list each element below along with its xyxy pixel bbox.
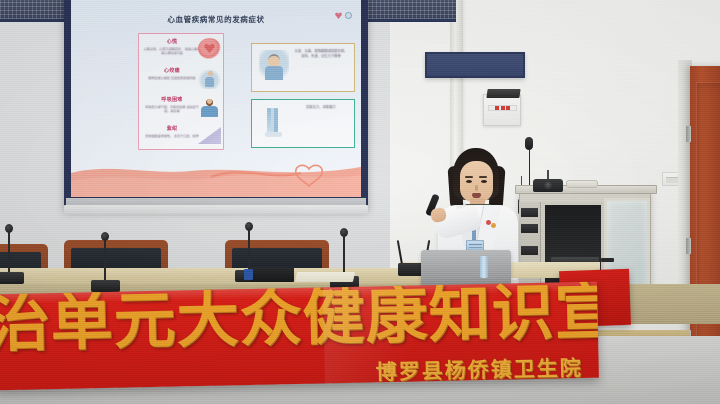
desk-equipment-box (250, 267, 294, 282)
symptom-heading: 心慌 (143, 38, 201, 45)
heart-icon (335, 12, 342, 19)
screen-lower-rail (64, 205, 368, 214)
symptom-box-neuro: 头晕、头痛、视物模糊或短暂失明、耳鸣、失语、记忆力下降等 (251, 43, 355, 92)
microphone-neck (104, 240, 106, 282)
symptom-box-text: 四肢无力、间歇跛行 (293, 105, 349, 110)
symptom-heading: 呼吸困难 (143, 96, 201, 103)
dizzy-head-icon (259, 50, 289, 86)
microphone-neck (8, 232, 10, 274)
cyanosis-icon (198, 127, 221, 144)
symptom-heading: 紫绀 (143, 125, 201, 132)
laptop-lid (421, 250, 511, 286)
panel-digit (501, 106, 505, 110)
face (460, 161, 493, 202)
projection-screen: 心血管疾病常见的发病症状 心慌 心跳过快、心慌不适等症状， 常由心脏病或心律失常… (64, 0, 368, 210)
desk-microphone[interactable] (2, 224, 16, 290)
desk-microphone[interactable] (98, 232, 112, 298)
presentation-slide: 心血管疾病常见的发病症状 心慌 心跳过快、心慌不适等症状， 常由心脏病或心律失常… (71, 0, 361, 197)
heart-blob-icon (198, 38, 221, 59)
microphone-neck (248, 230, 250, 272)
camera-lens (543, 181, 553, 189)
chest-pain-icon (198, 68, 221, 89)
weak-legs-icon (259, 106, 289, 142)
wall-sign-blue (425, 52, 525, 78)
microphone-base (0, 272, 24, 284)
symptom-body: 呼吸费力或气短，平卧时加重 活动后气促、喘息等 (143, 105, 201, 114)
symptom-box-limbs: 四肢无力、间歇跛行 (251, 99, 355, 148)
symptom-box-text: 头晕、头痛、视物模糊或短暂失明、耳鸣、失语、记忆力下降等 (293, 49, 349, 59)
slide-title: 心血管疾病常见的发病症状 (71, 14, 361, 25)
eyebrow (479, 176, 487, 178)
nose (475, 185, 478, 191)
coral-wave (71, 155, 361, 197)
symptom-body: 心跳过快、心慌不适等症状， 常由心脏病或心律失常引起 (143, 47, 201, 56)
panel-visor (486, 89, 520, 98)
symptom-body: 皮肤黏膜呈青紫色， 多见于口唇、指甲 (143, 134, 201, 139)
panel-digit (506, 106, 510, 110)
slide-logo (335, 12, 352, 19)
symptom-heading: 心绞痛 (143, 67, 201, 74)
ring-icon (345, 12, 352, 19)
eye (481, 180, 487, 183)
desk-microphone[interactable] (337, 228, 351, 294)
door-hinge (686, 238, 691, 254)
rack-top-tray (566, 180, 598, 188)
panel-digit (495, 106, 499, 110)
lapel-pin (486, 220, 498, 230)
water-bottle (480, 256, 488, 278)
eye (466, 180, 472, 183)
papers-on-desk (295, 272, 355, 282)
breathing-difficulty-icon (198, 97, 221, 118)
photo-scene: 心血管疾病常见的发病症状 心慌 心跳过快、心慌不适等症状， 常由心脏病或心律失常… (0, 0, 720, 404)
ac-control-panel (483, 94, 521, 126)
conference-camera (533, 170, 563, 192)
symptom-body: 胸骨后或心前区 压迫性疼痛或闷痛 (143, 76, 201, 81)
microphone-base (91, 280, 120, 292)
red-banner: 治单元大众健康知识宣传 博罗县杨侨镇卫生院 (0, 282, 599, 391)
door-hinge (686, 126, 691, 142)
pin-dot (491, 223, 496, 228)
banner-main-text: 治单元大众健康知识宣传 (0, 282, 599, 358)
panel-display (488, 105, 517, 111)
symptom-panel-left: 心慌 心跳过快、心慌不适等症状， 常由心脏病或心律失常引起 心绞痛 胸骨后或心前… (138, 33, 224, 150)
projection-screen-surface: 心血管疾病常见的发病症状 心慌 心跳过快、心慌不适等症状， 常由心脏病或心律失常… (71, 0, 361, 197)
eyebrow (465, 176, 473, 178)
